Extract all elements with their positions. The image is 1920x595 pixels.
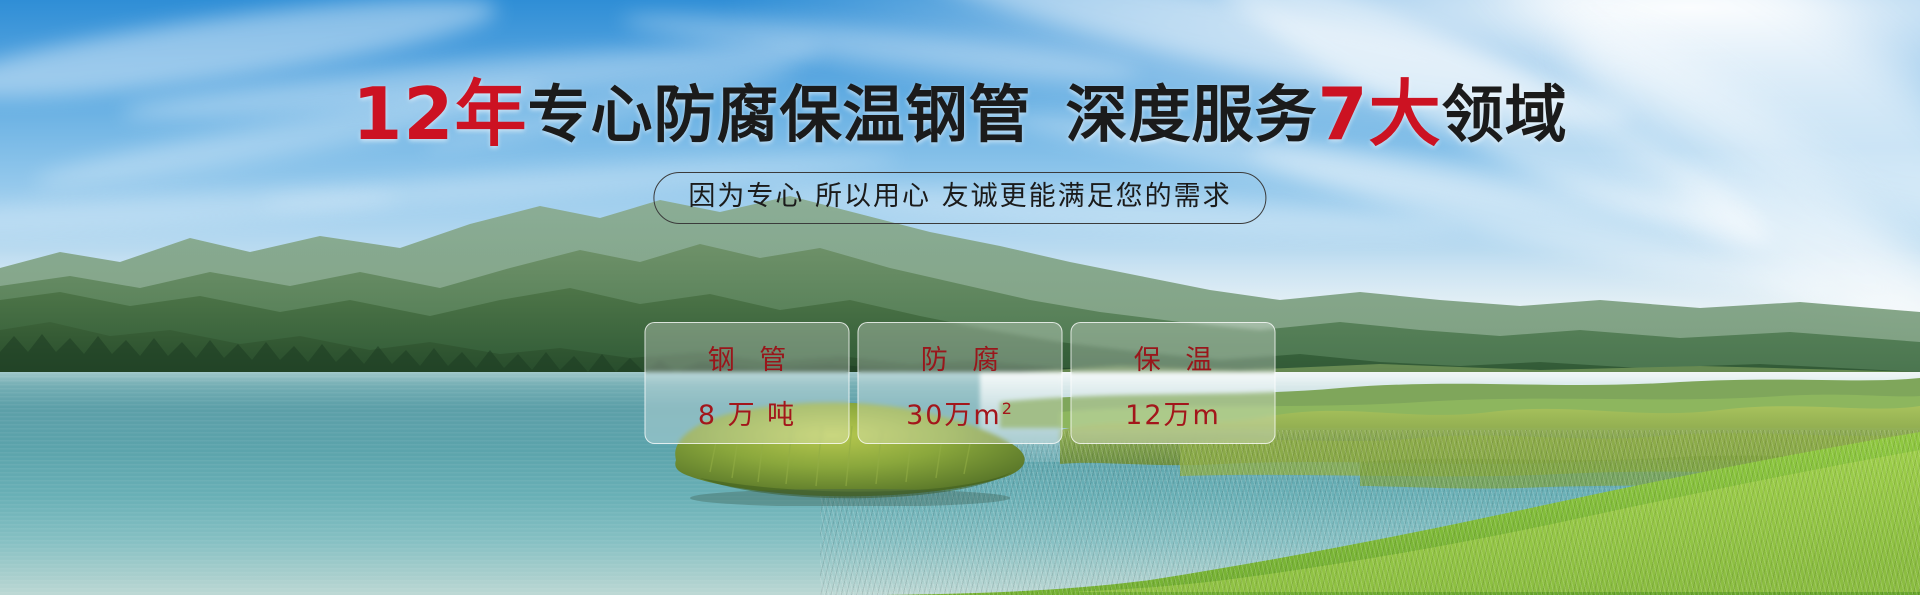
stat-card-insulation[interactable]: 保 温 12万m [1071, 322, 1276, 444]
stat-card-list: 钢 管 8 万 吨 防 腐 30万m2 保 温 12万m [645, 322, 1276, 444]
stat-card-label: 防 腐 [913, 338, 1008, 377]
headline-tail-text: 领域 [1442, 78, 1568, 151]
promo-banner: 12年专心防腐保温钢管深度服务7大领域 因为专心 所以用心 友诚更能满足您的需求… [0, 0, 1920, 595]
stat-card-steel-pipe[interactable]: 钢 管 8 万 吨 [645, 322, 850, 444]
headline-accent-number: 7 [1318, 72, 1369, 156]
stat-card-value: 12万m [1125, 393, 1221, 432]
stat-value-superscript: 2 [1002, 399, 1014, 418]
stat-card-value: 30万m2 [906, 393, 1014, 432]
stat-value-text: 12万m [1125, 400, 1221, 431]
stat-value-text: 30万m [906, 400, 1002, 431]
subtitle-text: 因为专心 所以用心 友诚更能满足您的需求 [688, 181, 1231, 212]
stat-value-text: 8 万 吨 [698, 400, 796, 431]
stat-card-label: 保 温 [1126, 338, 1221, 377]
headline-accent-da: 大 [1369, 72, 1442, 156]
stat-card-anticorrosion[interactable]: 防 腐 30万m2 [858, 322, 1063, 444]
stat-card-value: 8 万 吨 [698, 393, 796, 432]
headline-years-unit: 年 [455, 72, 528, 156]
subtitle-pill: 因为专心 所以用心 友诚更能满足您的需求 [653, 172, 1266, 224]
stat-card-label: 钢 管 [700, 338, 795, 377]
page-title: 12年专心防腐保温钢管深度服务7大领域 [0, 78, 1920, 150]
headline-main-text: 专心防腐保温钢管 [528, 78, 1032, 151]
headline-second-text: 深度服务 [1066, 78, 1318, 151]
headline-years-number: 12 [352, 72, 454, 156]
